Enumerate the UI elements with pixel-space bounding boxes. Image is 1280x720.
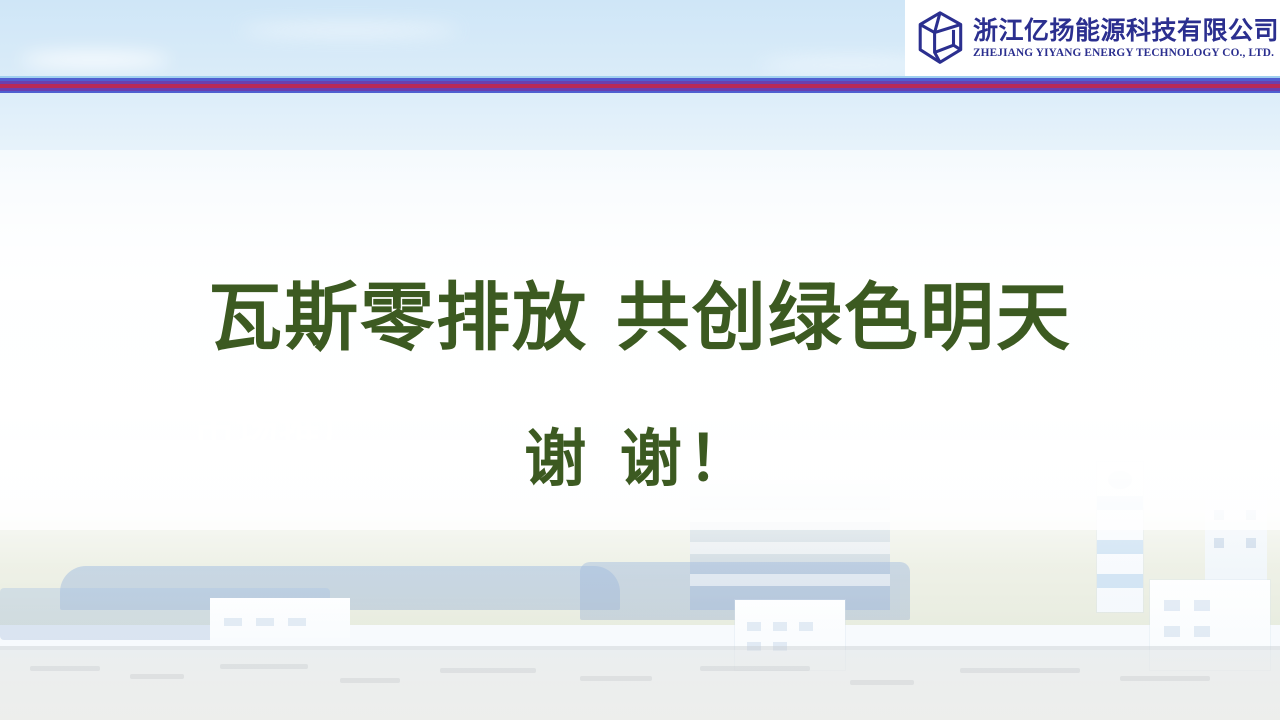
decorative-rule (0, 76, 1280, 93)
thank-you-text: 谢 谢！ (0, 408, 1280, 498)
company-name-cn: 浙江亿扬能源科技有限公司 (973, 17, 1279, 45)
hexagon-crystal-icon (913, 9, 967, 67)
company-logo-plate: 浙江亿扬能源科技有限公司 ZHEJIANG YIYANG ENERGY TECH… (905, 0, 1280, 76)
slide-headline: 瓦斯零排放 共创绿色明天 (0, 258, 1280, 365)
logo-text-block: 浙江亿扬能源科技有限公司 ZHEJIANG YIYANG ENERGY TECH… (973, 17, 1279, 59)
cloud (20, 52, 170, 68)
presentation-slide: 市场推广 瓦斯零排放 共创绿色明天 谢 谢！ 浙江亿扬能源科技有限公司 ZHEJ… (0, 0, 1280, 720)
storage-yard (0, 650, 1280, 720)
cloud (240, 24, 460, 36)
company-name-en: ZHEJIANG YIYANG ENERGY TECHNOLOGY CO., L… (973, 47, 1279, 59)
